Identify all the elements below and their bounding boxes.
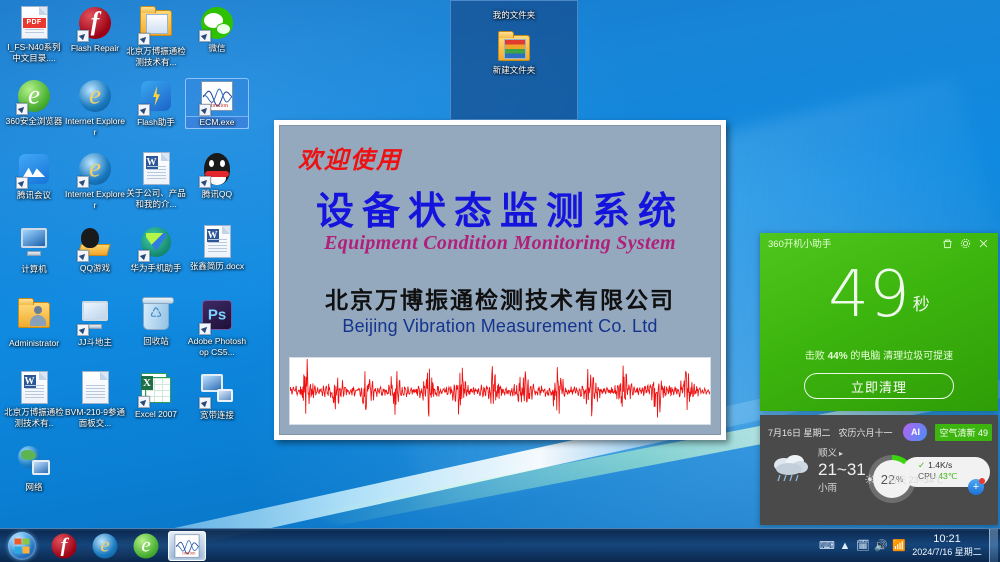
desktop-icon-image bbox=[17, 228, 51, 262]
folder-region-title: 我的文件夹 bbox=[451, 9, 577, 21]
desktop-icon-label: 回收站 bbox=[125, 336, 187, 347]
weather-temp-range: 21~31 bbox=[818, 460, 866, 480]
splash-panel: 欢迎使用 设备状态监测系统 Equipment Condition Monito… bbox=[279, 125, 721, 435]
internet-explorer-icon bbox=[79, 80, 111, 112]
boot-seconds-value: 49 bbox=[828, 258, 909, 332]
desktop-icon-image: W bbox=[139, 152, 173, 186]
boot-time-seconds: 49秒 bbox=[760, 263, 998, 337]
desktop-icon-image bbox=[78, 80, 112, 114]
desktop-icon-label: Internet Explorer bbox=[64, 116, 126, 137]
desktop-icon[interactable]: Flash Repair bbox=[64, 6, 126, 54]
app-title-chinese: 设备状态监测系统 bbox=[280, 180, 720, 235]
desktop-icon[interactable]: QQ游戏 bbox=[64, 225, 126, 274]
desktop-icon-image: W bbox=[17, 371, 51, 405]
desktop-icon[interactable]: 北京万博振通检测技术有... bbox=[125, 6, 187, 67]
shortcut-arrow-icon bbox=[199, 397, 211, 409]
desktop-icon[interactable]: brationECM.exe bbox=[186, 79, 248, 128]
desktop-icon[interactable]: W张鑫简历.docx bbox=[186, 225, 248, 272]
shortcut-arrow-icon bbox=[138, 250, 150, 262]
taskbar-button-icon bbox=[134, 532, 159, 559]
desktop-icon[interactable]: Administrator bbox=[3, 298, 65, 349]
taskbar-ecm[interactable]: bration bbox=[168, 531, 206, 561]
taskbar-button-icon bbox=[93, 532, 118, 559]
weather-date: 7月16日 星期二 bbox=[768, 426, 831, 439]
desktop-icon[interactable]: JJ斗地主 bbox=[64, 298, 126, 348]
check-icon: ✓ bbox=[918, 460, 925, 470]
word-document-icon: W bbox=[143, 152, 170, 185]
desktop-icon-image bbox=[78, 371, 112, 405]
desktop-icon-label: Flash Repair bbox=[64, 43, 126, 54]
desktop-icon-image bbox=[200, 300, 234, 334]
splash-window[interactable]: 欢迎使用 设备状态监测系统 Equipment Condition Monito… bbox=[274, 120, 726, 440]
desktop-icon-label: QQ游戏 bbox=[64, 263, 126, 274]
flash-icon bbox=[52, 533, 77, 558]
system-tray: ⌨ ▲ 🗓 🔊 📶 10:21 2024/7/16 星期二 bbox=[818, 529, 1000, 562]
svg-text:bration: bration bbox=[211, 103, 228, 109]
desktop-icon[interactable]: 宽带连接 bbox=[186, 371, 248, 421]
shortcut-arrow-icon bbox=[199, 323, 211, 335]
desktop-icon-image: bration bbox=[200, 81, 234, 115]
desktop-icon-label: BVM-210-9参通面板交... bbox=[64, 407, 126, 428]
taskbar[interactable]: bration ⌨ ▲ 🗓 🔊 📶 10:21 2024/7/16 星期二 bbox=[0, 528, 1000, 562]
desktop-icon[interactable]: W北京万博振通检测技术有.. bbox=[3, 371, 65, 428]
desktop-icon-image bbox=[200, 374, 234, 408]
shortcut-arrow-icon bbox=[138, 396, 150, 408]
show-desktop-button[interactable] bbox=[989, 529, 998, 562]
sub-prefix: 击败 bbox=[805, 351, 828, 362]
desktop-icon-label: 宽带连接 bbox=[186, 410, 248, 421]
sun-icon: ☀ bbox=[864, 472, 876, 488]
new-folder-icon[interactable] bbox=[451, 35, 577, 61]
desktop-icon-image bbox=[17, 302, 51, 336]
desktop-icon[interactable]: Internet Explorer bbox=[64, 79, 126, 137]
desktop-icon-image bbox=[78, 153, 112, 187]
svg-text:bration: bration bbox=[182, 551, 196, 556]
ecm-app-icon: bration bbox=[175, 534, 200, 557]
keyboard-icon[interactable]: ⌨ bbox=[818, 531, 836, 561]
taskbar-ie[interactable] bbox=[86, 531, 124, 561]
shortcut-arrow-icon bbox=[16, 177, 28, 189]
waveform-svg bbox=[290, 358, 710, 424]
desktop-icon-image: PDF bbox=[17, 6, 51, 40]
weather-temps: 顺义▸ 21~31 小雨 bbox=[818, 445, 866, 494]
word-document-icon: W bbox=[21, 371, 48, 404]
shortcut-arrow-icon bbox=[16, 103, 28, 115]
selected-folder-region[interactable]: 我的文件夹 新建文件夹 bbox=[450, 0, 578, 120]
desktop-icon-label: Internet Explorer bbox=[64, 189, 126, 210]
weather-city[interactable]: 顺义▸ bbox=[818, 445, 866, 459]
desktop-icon-label: JJ斗地主 bbox=[64, 337, 126, 348]
desktop-icon-label: 网络 bbox=[3, 482, 65, 493]
desktop-icon[interactable]: XExcel 2007 bbox=[125, 371, 187, 420]
desktop-icon-label: 360安全浏览器 bbox=[3, 116, 65, 127]
trash-icon[interactable] bbox=[939, 235, 955, 251]
expand-button[interactable]: + bbox=[968, 479, 984, 495]
taskbar-flash[interactable] bbox=[45, 531, 83, 561]
desktop-icon-image bbox=[139, 10, 173, 44]
vibration-waveform-chart bbox=[289, 357, 711, 425]
clock-date: 2024/7/16 星期二 bbox=[910, 547, 984, 558]
desktop-icon-label: I_FS-N40系列中文目录.... bbox=[3, 42, 65, 63]
360-browser-icon bbox=[134, 533, 159, 558]
desktop-icon-image: W bbox=[200, 225, 234, 259]
shortcut-arrow-icon bbox=[199, 104, 211, 116]
action-center-icon[interactable]: 🗓 bbox=[854, 531, 872, 561]
desktop-icon[interactable]: 网络 bbox=[3, 444, 65, 493]
new-folder-label: 新建文件夹 bbox=[451, 64, 577, 76]
desktop-icon-image bbox=[78, 301, 112, 335]
desktop-icon[interactable]: 微信 bbox=[186, 6, 248, 54]
desktop-icon[interactable]: 华为手机助手 bbox=[125, 225, 187, 274]
desktop-icon[interactable]: Internet Explorer bbox=[64, 152, 126, 210]
weather-condition: 小雨 bbox=[818, 480, 866, 494]
desktop-icon-image bbox=[78, 7, 112, 41]
desktop-icon-label: Excel 2007 bbox=[125, 409, 187, 420]
desktop-icon-image bbox=[78, 227, 112, 261]
360-boot-assistant-widget[interactable]: 360开机小助手 49秒 击败 44% 的电脑 清理垃圾可提速 立即清理 bbox=[760, 233, 998, 411]
taskbar-buttons: bration bbox=[42, 531, 206, 561]
weather-forecast: 后天 23~34℃ bbox=[888, 473, 943, 486]
desktop-icon-label: 微信 bbox=[186, 43, 248, 54]
desktop-icon-image bbox=[17, 446, 51, 480]
taskbar-button-icon bbox=[52, 532, 77, 559]
welcome-text: 欢迎使用 bbox=[298, 140, 402, 175]
desktop-icon-label: Flash助手 bbox=[125, 117, 187, 128]
360-widget-title: 360开机小助手 bbox=[768, 236, 937, 250]
desktop-icon-image bbox=[200, 153, 234, 187]
desktop-icon-image bbox=[139, 300, 173, 334]
360-widget-header: 360开机小助手 bbox=[760, 233, 998, 253]
desktop-icon[interactable]: BVM-210-9参通面板交... bbox=[64, 371, 126, 428]
desktop-icon-label: 关于公司、产品和我的介... bbox=[125, 188, 187, 209]
desktop-icon-label: 腾讯QQ bbox=[186, 189, 248, 200]
desktop-icon-label: ECM.exe bbox=[186, 117, 248, 128]
clock-time: 10:21 bbox=[910, 534, 984, 545]
user-folder-icon bbox=[18, 302, 50, 328]
desktop-icon[interactable]: 腾讯QQ bbox=[186, 152, 248, 200]
ai-badge[interactable]: AI bbox=[903, 423, 927, 441]
shortcut-arrow-icon bbox=[199, 30, 211, 42]
taskbar-button-icon: bration bbox=[175, 532, 200, 559]
clean-now-button[interactable]: 立即清理 bbox=[804, 373, 954, 399]
computer-icon bbox=[18, 228, 50, 256]
document-file-icon bbox=[82, 371, 109, 404]
desktop-icon-label: Adobe Photoshop CS5... bbox=[186, 336, 248, 357]
boot-seconds-unit: 秒 bbox=[913, 295, 930, 315]
shortcut-arrow-icon bbox=[138, 104, 150, 116]
shortcut-arrow-icon bbox=[199, 176, 211, 188]
desktop-icon-label: 华为手机助手 bbox=[125, 263, 187, 274]
desktop-icon[interactable]: PDFI_FS-N40系列中文目录.... bbox=[3, 6, 65, 63]
taskbar-360browser[interactable] bbox=[127, 531, 165, 561]
desktop-icon[interactable]: 回收站 bbox=[125, 298, 187, 347]
shortcut-arrow-icon bbox=[77, 30, 89, 42]
desktop-icon-label: 计算机 bbox=[3, 264, 65, 275]
shortcut-arrow-icon bbox=[77, 250, 89, 262]
desktop-icon[interactable]: 计算机 bbox=[3, 225, 65, 275]
desktop-icon-label: 张鑫简历.docx bbox=[186, 261, 248, 272]
shortcut-arrow-icon bbox=[77, 176, 89, 188]
weather-lunar-date: 农历六月十一 bbox=[839, 426, 893, 439]
chevron-right-icon: ▸ bbox=[839, 449, 843, 458]
shortcut-arrow-icon bbox=[77, 324, 89, 336]
company-name-chinese: 北京万博振通检测技术有限公司 bbox=[280, 281, 720, 315]
desktop-icon-image bbox=[17, 80, 51, 114]
desktop-icon[interactable]: Adobe Photoshop CS5... bbox=[186, 298, 248, 357]
taskbar-clock[interactable]: 10:21 2024/7/16 星期二 bbox=[908, 534, 986, 558]
weather-system-widget[interactable]: 7月16日 星期二 农历六月十一 AI 空气清新 49 顺义▸ 21~31 小雨… bbox=[760, 415, 998, 525]
close-icon[interactable] bbox=[975, 235, 991, 251]
volume-icon[interactable]: 🔊 bbox=[872, 531, 890, 561]
desktop-icon-label: 腾讯会议 bbox=[3, 190, 65, 201]
air-quality-badge[interactable]: 空气清新 49 bbox=[935, 424, 992, 441]
desktop-icon-label: 北京万博振通检测技术有.. bbox=[3, 407, 65, 428]
gear-icon[interactable] bbox=[957, 235, 973, 251]
desktop-icon[interactable]: Flash助手 bbox=[125, 79, 187, 128]
show-hidden-icons-icon[interactable]: ▲ bbox=[836, 531, 854, 561]
weather-detail-row: 顺义▸ 21~31 小雨 22% ✓1.4K/s CPU 43℃ + ☀ 后天 … bbox=[760, 441, 998, 494]
desktop-icon-label: Administrator bbox=[3, 338, 65, 349]
sub-percent: 44% bbox=[828, 351, 848, 362]
weather-date-row: 7月16日 星期二 农历六月十一 AI 空气清新 49 bbox=[760, 415, 998, 441]
desktop-icon-image bbox=[17, 154, 51, 188]
rain-cloud-icon bbox=[770, 451, 812, 485]
desktop-icon-image bbox=[139, 81, 173, 115]
boot-comparison-text: 击败 44% 的电脑 清理垃圾可提速 bbox=[760, 347, 998, 362]
pdf-file-icon: PDF bbox=[21, 6, 48, 39]
desktop-icon[interactable]: W关于公司、产品和我的介... bbox=[125, 152, 187, 209]
desktop-icon-image: X bbox=[139, 373, 173, 407]
network-icon[interactable]: 📶 bbox=[890, 531, 908, 561]
desktop-icon-image bbox=[200, 7, 234, 41]
desktop-icon-image bbox=[139, 227, 173, 261]
start-button[interactable] bbox=[2, 531, 42, 561]
app-title-english: Equipment Condition Monitoring System bbox=[280, 232, 720, 255]
network-globe-icon bbox=[18, 446, 50, 476]
recycle-bin-icon bbox=[143, 300, 169, 330]
sub-suffix: 的电脑 清理垃圾可提速 bbox=[848, 351, 954, 362]
desktop-icon[interactable]: 360安全浏览器 bbox=[3, 79, 65, 127]
company-name-english: Beijing Vibration Measurement Co. Ltd bbox=[280, 316, 720, 337]
internet-explorer-icon bbox=[93, 533, 118, 558]
desktop-icon-label: 北京万博振通检测技术有... bbox=[125, 46, 187, 67]
network-speed: ✓1.4K/s bbox=[918, 460, 984, 471]
desktop-icon[interactable]: 腾讯会议 bbox=[3, 152, 65, 201]
shortcut-arrow-icon bbox=[138, 33, 150, 45]
word-document-icon: W bbox=[204, 225, 231, 258]
